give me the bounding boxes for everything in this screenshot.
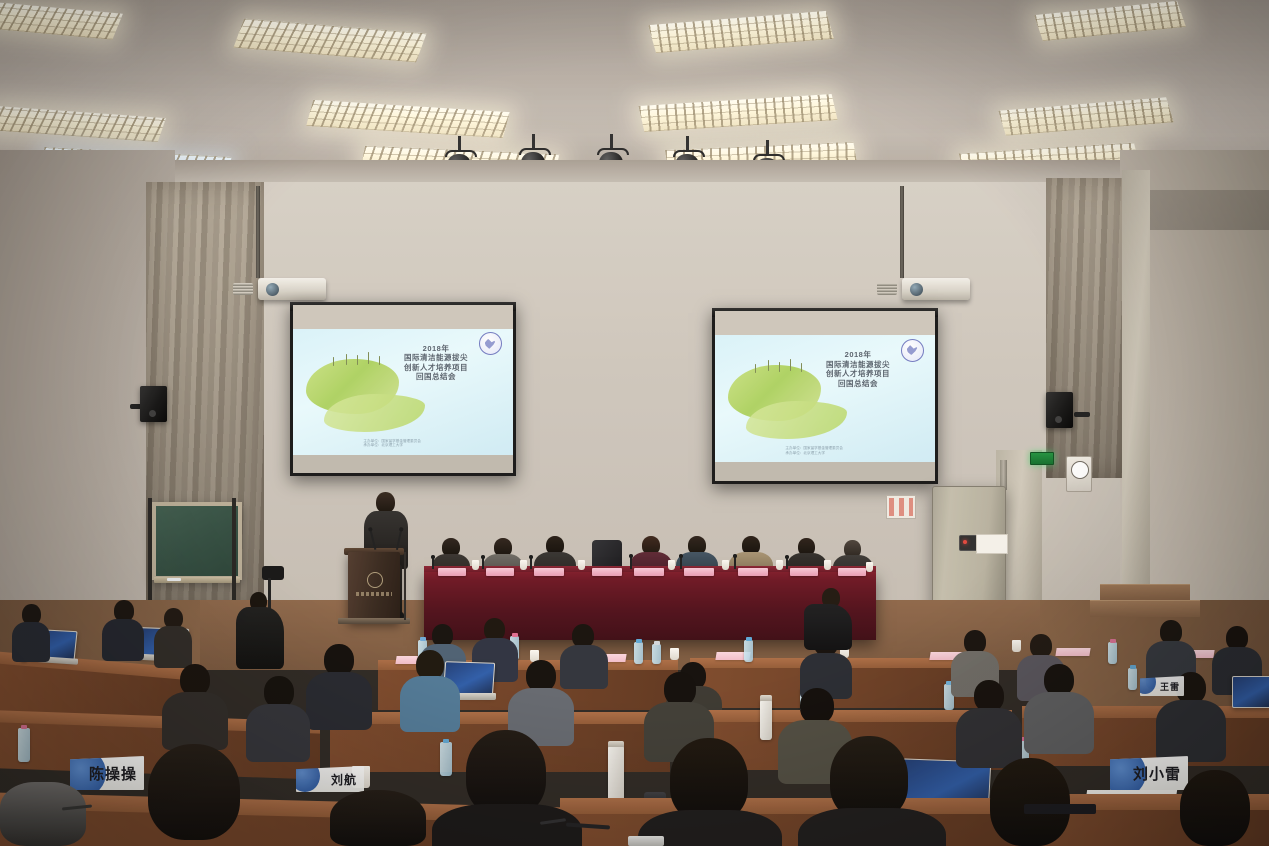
stage-step xyxy=(1100,584,1190,601)
slide-line-2: 创新人才培养项目 xyxy=(372,363,500,373)
water-bottle xyxy=(744,640,753,662)
head-table-placard xyxy=(438,568,466,576)
speaker-bracket xyxy=(1074,412,1090,417)
window-curtain-right xyxy=(1046,178,1132,478)
table-microphone xyxy=(734,557,736,569)
cable xyxy=(404,552,406,620)
name-card: 刘小雷 xyxy=(1110,756,1188,790)
exit-sign xyxy=(1030,452,1054,465)
water-bottle xyxy=(1108,642,1117,664)
projector-mount-pole xyxy=(256,186,260,278)
name-card-label: 刘航 xyxy=(331,771,364,788)
podium-base xyxy=(338,618,410,624)
thermos-flask xyxy=(608,746,624,804)
water-bottle xyxy=(634,642,643,664)
name-card-graphic xyxy=(1140,676,1156,694)
slide-sponsor-2: 承办单位：北京理工大学 xyxy=(363,443,499,448)
name-card: 王雷 xyxy=(1140,676,1184,696)
wall-column xyxy=(1122,170,1150,640)
table-microphone xyxy=(630,557,632,569)
laptop xyxy=(1232,676,1269,708)
fire-safety-sign xyxy=(886,495,916,519)
water-bottle xyxy=(18,728,30,762)
paper-cup xyxy=(670,648,679,660)
ac-label-sticker xyxy=(976,534,1008,554)
chalkboard-leg xyxy=(148,498,152,616)
water-bottle xyxy=(1128,668,1137,690)
table-microphone xyxy=(432,558,434,569)
projector-lens xyxy=(266,283,279,296)
name-card-label: 刘小雷 xyxy=(1133,763,1188,784)
slide-year: 2018年 xyxy=(794,350,922,360)
paper-cup xyxy=(472,560,479,570)
slide-line-3: 回国总结会 xyxy=(372,372,500,382)
water-bottle xyxy=(440,742,452,776)
projector-mount-pole xyxy=(900,186,904,278)
wall-speaker-right xyxy=(1046,392,1073,428)
paper-cup xyxy=(866,562,873,572)
thermos-flask xyxy=(760,700,772,740)
name-card-graphic xyxy=(296,766,320,792)
slide-sponsor-2: 承办单位：北京理工大学 xyxy=(785,451,921,456)
head-table-placard xyxy=(634,568,664,576)
paper-cup xyxy=(520,560,527,570)
paper-cup xyxy=(722,560,729,570)
paper-cup xyxy=(578,560,585,570)
slide-content-left: 2018年 国际清洁能源拔尖 创新人才培养项目 回国总结会 主办单位：国家留学基… xyxy=(293,329,513,455)
slide-line-1: 国际清洁能源拔尖 xyxy=(794,360,922,370)
name-card: 陈操操 xyxy=(70,756,144,790)
wall-clock-icon xyxy=(1066,456,1092,492)
head-table-placard xyxy=(534,568,564,576)
head-table-placard xyxy=(738,568,768,576)
slide-line-1: 国际清洁能源拔尖 xyxy=(372,353,500,363)
podium-nameplate xyxy=(356,592,392,596)
table-microphone xyxy=(680,557,682,569)
head-table-placard xyxy=(486,568,514,576)
handout-paper xyxy=(1055,648,1090,656)
podium-emblem-icon xyxy=(367,572,383,588)
table-microphone xyxy=(786,558,788,569)
name-card: 刘航 xyxy=(296,766,364,792)
smartphone xyxy=(1024,804,1096,814)
head-table-placard xyxy=(592,568,622,576)
wall-speaker-left xyxy=(140,386,167,422)
table-microphone xyxy=(482,558,484,569)
slide-year: 2018年 xyxy=(372,344,500,354)
head-table-placard xyxy=(838,568,866,576)
paper-cup xyxy=(776,560,783,570)
chalk-piece xyxy=(167,578,181,581)
head-table-placard xyxy=(790,568,818,576)
smartphone xyxy=(628,836,664,846)
slide-line-2: 创新人才培养项目 xyxy=(794,369,922,379)
doorway-shadow xyxy=(1150,190,1269,230)
projector-lens xyxy=(910,283,923,296)
projection-screen-right: 2018年 国际清洁能源拔尖 创新人才培养项目 回国总结会 主办单位：国家留学基… xyxy=(712,308,938,484)
stage-step xyxy=(1090,600,1200,617)
head-table-placard xyxy=(684,568,714,576)
conference-hall-photo: 2018年 国际清洁能源拔尖 创新人才培养项目 回国总结会 主办单位：国家留学基… xyxy=(0,0,1269,846)
slide-content-right: 2018年 国际清洁能源拔尖 创新人才培养项目 回国总结会 主办单位：国家留学基… xyxy=(715,335,935,463)
chalkboard-leg xyxy=(232,498,236,602)
name-card-label: 陈操操 xyxy=(89,763,144,784)
slide-line-3: 回国总结会 xyxy=(794,379,922,389)
name-card-label: 王雷 xyxy=(1160,680,1184,693)
paper-cup xyxy=(668,560,675,570)
table-microphone xyxy=(530,558,532,569)
paper-cup xyxy=(1012,640,1021,652)
water-bottle xyxy=(652,644,661,664)
projection-screen-left: 2018年 国际清洁能源拔尖 创新人才培养项目 回国总结会 主办单位：国家留学基… xyxy=(290,302,516,476)
paper-cup xyxy=(824,560,831,570)
chalkboard xyxy=(152,502,242,580)
podium xyxy=(348,552,400,622)
